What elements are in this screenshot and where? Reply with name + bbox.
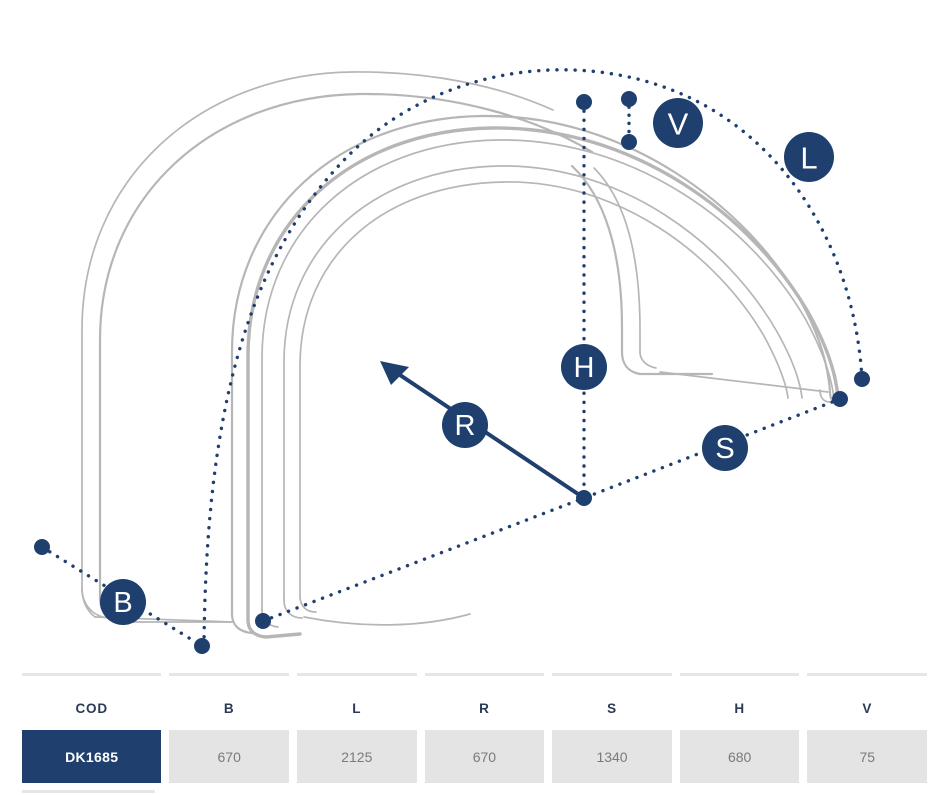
badge-label-s: S (715, 433, 734, 465)
radius-arrow-head (380, 361, 409, 385)
dimension-badge-l[interactable]: L (784, 132, 834, 182)
v-bottom-dot (621, 134, 637, 150)
fender-outer-back-arc (82, 72, 553, 588)
fender-rim-arc-1 (284, 166, 802, 600)
table-top-rules (0, 673, 935, 676)
fender-hem-sweep (304, 614, 470, 625)
table-header-v: V (807, 696, 927, 720)
dimension-badge-h[interactable]: H (561, 344, 607, 390)
table-cell-s: 1340 (552, 730, 672, 783)
dimension-label-badges: VLHRSB (100, 98, 834, 625)
dimension-endpoint-dots (34, 91, 870, 654)
table-header-row: CODBLRSHV (0, 696, 935, 720)
specification-table: CODBLRSHV DK16856702125670134068075 (0, 668, 935, 795)
table-rule-s (552, 673, 672, 676)
table-value-row: DK16856702125670134068075 (0, 730, 935, 783)
table-cell-h: 680 (680, 730, 800, 783)
dimension-line-S (263, 399, 840, 621)
table-rule-r (425, 673, 545, 676)
table-rule-v (807, 673, 927, 676)
l-end-dot (854, 371, 870, 387)
fender-front-arc-main (248, 128, 838, 620)
table-header-s: S (552, 696, 672, 720)
dimension-badge-r[interactable]: R (442, 402, 488, 448)
fender-hem-6 (300, 596, 316, 612)
badge-label-v: V (668, 107, 689, 142)
table-cell-v: 75 (807, 730, 927, 783)
badge-label-l: L (800, 141, 817, 176)
page-root: VLHRSB CODBLRSHV DK168567021256701340680… (0, 0, 935, 795)
s-right-dot (832, 391, 848, 407)
fender-rim-arc-2 (300, 182, 788, 596)
table-cell-b: 670 (169, 730, 289, 783)
dimension-line-L (204, 70, 862, 646)
table-cell-product-code: DK1685 (22, 730, 161, 783)
badge-label-b: B (113, 587, 132, 619)
diagram-canvas: VLHRSB (0, 0, 935, 668)
s-left-dot (255, 613, 271, 629)
fender-body-outlines (82, 72, 840, 637)
fender-cavity-bottom-lip-2 (640, 352, 656, 368)
table-rule-cod (22, 673, 161, 676)
table-header-cod: COD (22, 696, 161, 720)
fender-cavity-edge-to-foot (660, 372, 828, 392)
fender-cavity-bottom-lip (622, 352, 712, 374)
fender-cavity-left-wall (572, 166, 622, 352)
table-bottom-rule (22, 790, 155, 793)
badge-label-h: H (574, 352, 595, 384)
dimension-badge-s[interactable]: S (702, 425, 748, 471)
h-top-dot (576, 94, 592, 110)
table-rule-l (297, 673, 417, 676)
radius-arrow-shaft (394, 371, 584, 498)
table-header-h: H (680, 696, 800, 720)
table-cell-r: 670 (425, 730, 545, 783)
dimension-badge-b[interactable]: B (100, 579, 146, 625)
fender-hem-5 (284, 600, 302, 618)
v-top-dot (621, 91, 637, 107)
h-bottom-dot (576, 490, 592, 506)
table-header-b: B (169, 696, 289, 720)
fender-dimension-diagram: VLHRSB (0, 0, 935, 668)
b-left-dot (34, 539, 50, 555)
table-rule-b (169, 673, 289, 676)
table-rule-h (680, 673, 800, 676)
b-right-dot (194, 638, 210, 654)
table-header-r: R (425, 696, 545, 720)
fender-front-arc-inner (262, 140, 834, 610)
badge-label-r: R (455, 410, 476, 442)
table-header-l: L (297, 696, 417, 720)
table-cell-l: 2125 (297, 730, 417, 783)
dimension-badge-v[interactable]: V (653, 98, 703, 148)
